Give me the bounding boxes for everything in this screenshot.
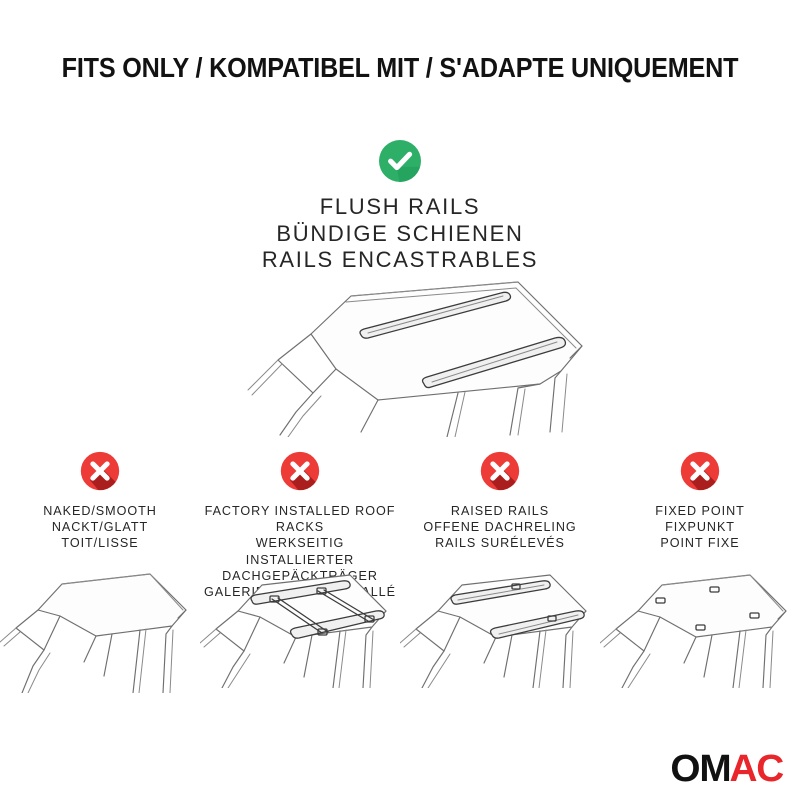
car-roof-fixed-point-illustration — [600, 553, 800, 688]
x-circle-icon — [79, 450, 121, 492]
x-icon-wrap-3 — [600, 450, 800, 496]
logo-text-ac: AC — [729, 750, 783, 788]
column-caption: NAKED/SMOOTH NACKT/GLATT TOIT/LISSE — [0, 503, 200, 552]
omac-logo: OM AC — [671, 748, 782, 788]
car-roof-naked-illustration — [0, 558, 200, 693]
incompatible-section: NAKED/SMOOTH NACKT/GLATT TOIT/LISSE — [0, 450, 800, 616]
check-circle-icon — [377, 138, 423, 184]
logo-text-om: OM — [670, 750, 730, 788]
compatible-caption: FLUSH RAILS BÜNDIGE SCHIENEN RAILS ENCAS… — [0, 194, 800, 274]
incompatible-column-fixed-point: FIXED POINT FIXPUNKT POINT FIXE — [600, 450, 800, 552]
x-icon-wrap-1 — [200, 450, 400, 496]
incompatible-column-factory-roof-racks: FACTORY INSTALLED ROOF RACKS WERKSEITIG … — [200, 450, 400, 616]
compatible-section: FLUSH RAILS BÜNDIGE SCHIENEN RAILS ENCAS… — [0, 138, 800, 274]
car-roof-flush-rails-illustration — [218, 272, 598, 437]
car-roof-factory-racks-illustration — [200, 553, 400, 688]
page-title: FITS ONLY / KOMPATIBEL MIT / S'ADAPTE UN… — [34, 52, 766, 84]
x-circle-icon — [279, 450, 321, 492]
column-caption: RAISED RAILS OFFENE DACHRELING RAILS SUR… — [400, 503, 600, 552]
x-circle-icon — [679, 450, 721, 492]
incompatible-column-naked-smooth: NAKED/SMOOTH NACKT/GLATT TOIT/LISSE — [0, 450, 200, 552]
column-caption: FIXED POINT FIXPUNKT POINT FIXE — [600, 503, 800, 552]
x-icon-wrap-0 — [0, 450, 200, 496]
incompatible-column-raised-rails: RAISED RAILS OFFENE DACHRELING RAILS SUR… — [400, 450, 600, 552]
car-roof-raised-rails-illustration — [400, 553, 600, 688]
x-circle-icon — [479, 450, 521, 492]
x-icon-wrap-2 — [400, 450, 600, 496]
